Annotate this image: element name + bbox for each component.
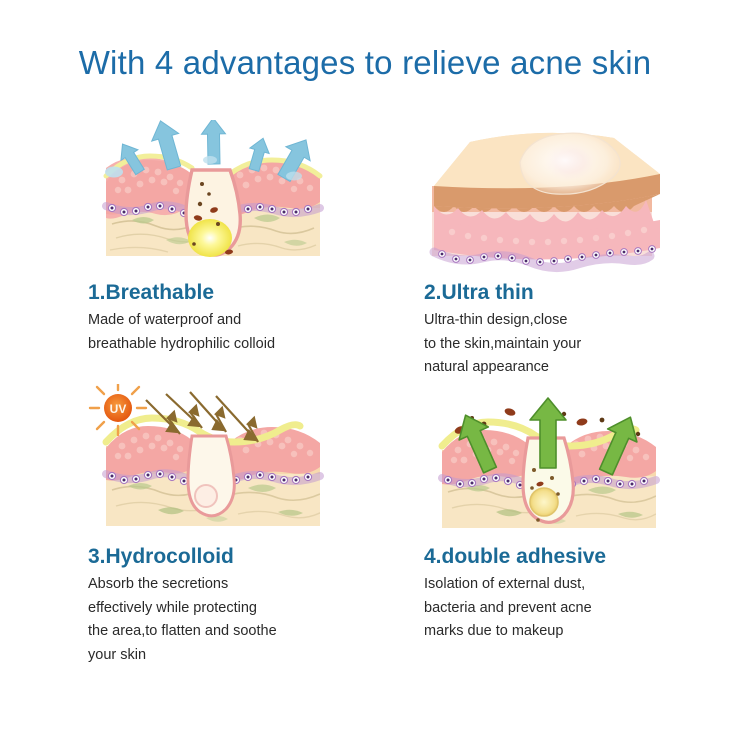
skin-double-adhesive-diagram-icon xyxy=(424,384,674,539)
panel-3-line-3: the area,to flatten and soothe xyxy=(88,620,418,643)
skin-breathable-diagram-icon xyxy=(88,120,338,275)
advantage-panel-1: 1.Breathable Made of waterproof and brea… xyxy=(88,120,418,356)
panel-2-body: Ultra-thin design,close to the skin,main… xyxy=(424,309,730,379)
panel-1-line-1: Made of waterproof and xyxy=(88,309,418,332)
panel-2-line-3: natural appearance xyxy=(424,356,730,379)
panel-3-heading: 3.Hydrocolloid xyxy=(88,545,418,568)
panel-3-line-1: Absorb the secretions xyxy=(88,573,418,596)
advantage-panel-2: 2.Ultra thin Ultra-thin design,close to … xyxy=(424,120,730,380)
advantage-panel-3: UV xyxy=(88,384,418,667)
panel-3-line-2: effectively while protecting xyxy=(88,597,418,620)
panel-1-line-2: breathable hydrophilic colloid xyxy=(88,333,418,356)
panel-4-line-3: marks due to makeup xyxy=(424,620,730,643)
advantages-grid: 1.Breathable Made of waterproof and brea… xyxy=(0,112,730,712)
page-title: With 4 advantages to relieve acne skin xyxy=(0,44,730,82)
skin-ultrathin-patch-diagram-icon xyxy=(424,120,674,275)
panel-4-body: Isolation of external dust, bacteria and… xyxy=(424,573,730,643)
panel-1-body: Made of waterproof and breathable hydrop… xyxy=(88,309,418,356)
advantages-infographic: With 4 advantages to relieve acne skin xyxy=(0,0,730,730)
panel-2-heading: 2.Ultra thin xyxy=(424,281,730,304)
panel-2-line-1: Ultra-thin design,close xyxy=(424,309,730,332)
panel-1-heading: 1.Breathable xyxy=(88,281,418,304)
panel-4-heading: 4.double adhesive xyxy=(424,545,730,568)
panel-3-line-4: your skin xyxy=(88,644,418,667)
svg-text:UV: UV xyxy=(110,402,127,416)
skin-uv-hydrocolloid-diagram-icon: UV xyxy=(88,384,338,539)
panel-3-body: Absorb the secretions effectively while … xyxy=(88,573,418,667)
panel-2-line-2: to the skin,maintain your xyxy=(424,333,730,356)
panel-4-line-2: bacteria and prevent acne xyxy=(424,597,730,620)
panel-4-line-1: Isolation of external dust, xyxy=(424,573,730,596)
advantage-panel-4: 4.double adhesive Isolation of external … xyxy=(424,384,730,644)
uv-sun-icon: UV xyxy=(90,384,146,435)
